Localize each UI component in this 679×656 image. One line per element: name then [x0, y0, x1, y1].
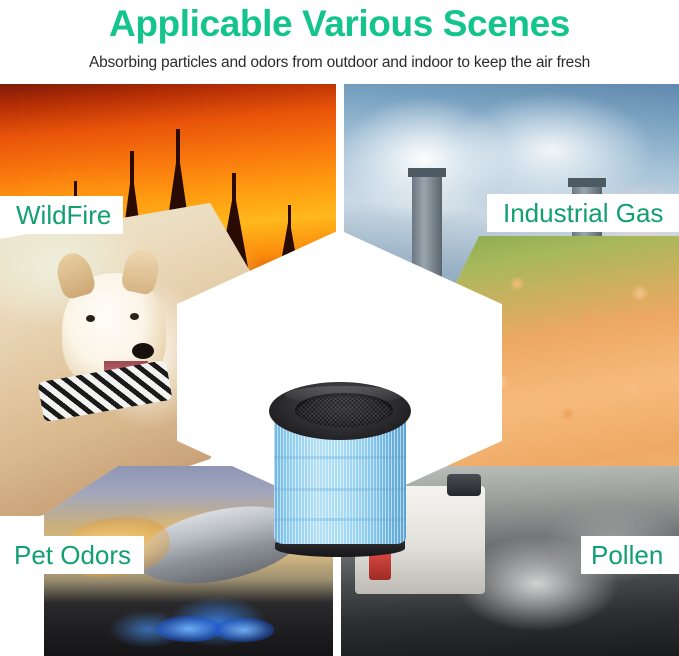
product-infographic: Applicable Various Scenes Absorbing part… — [0, 0, 679, 656]
filter-seam-lower — [274, 518, 406, 521]
filter-cap-highlight — [285, 386, 403, 404]
scene-label-wildfire-text: WildFire — [16, 200, 111, 231]
filter-seam-mid — [274, 488, 406, 491]
scene-label-industrial-gas: Industrial Gas — [487, 194, 679, 232]
dog-eye-left — [86, 315, 95, 322]
dog-nose — [132, 343, 154, 359]
gas-flame-left — [156, 616, 222, 642]
page-subtitle: Absorbing particles and odors from outdo… — [0, 46, 679, 74]
filter-top-cap — [269, 382, 411, 440]
scene-collage: WildFire Industrial Gas Pet Odors Pollen… — [0, 84, 679, 656]
truck-side-mirror — [447, 474, 481, 496]
filter-seam-upper — [274, 456, 406, 459]
scene-label-pet-odors: Pet Odors — [0, 536, 144, 574]
scene-label-pollen: Pollen — [581, 536, 679, 574]
scene-label-industrial-gas-text: Industrial Gas — [503, 198, 663, 229]
scene-label-pollen-text: Pollen — [591, 540, 663, 571]
scene-label-pet-odors-text: Pet Odors — [14, 540, 131, 571]
gas-flame-right — [214, 618, 274, 642]
header: Applicable Various Scenes Absorbing part… — [0, 0, 679, 82]
dog-eye-right — [130, 313, 139, 320]
page-title: Applicable Various Scenes — [0, 0, 679, 46]
scene-label-wildfire: WildFire — [0, 196, 123, 234]
air-purifier-filter — [265, 380, 415, 562]
dog-ear-right — [120, 246, 162, 296]
